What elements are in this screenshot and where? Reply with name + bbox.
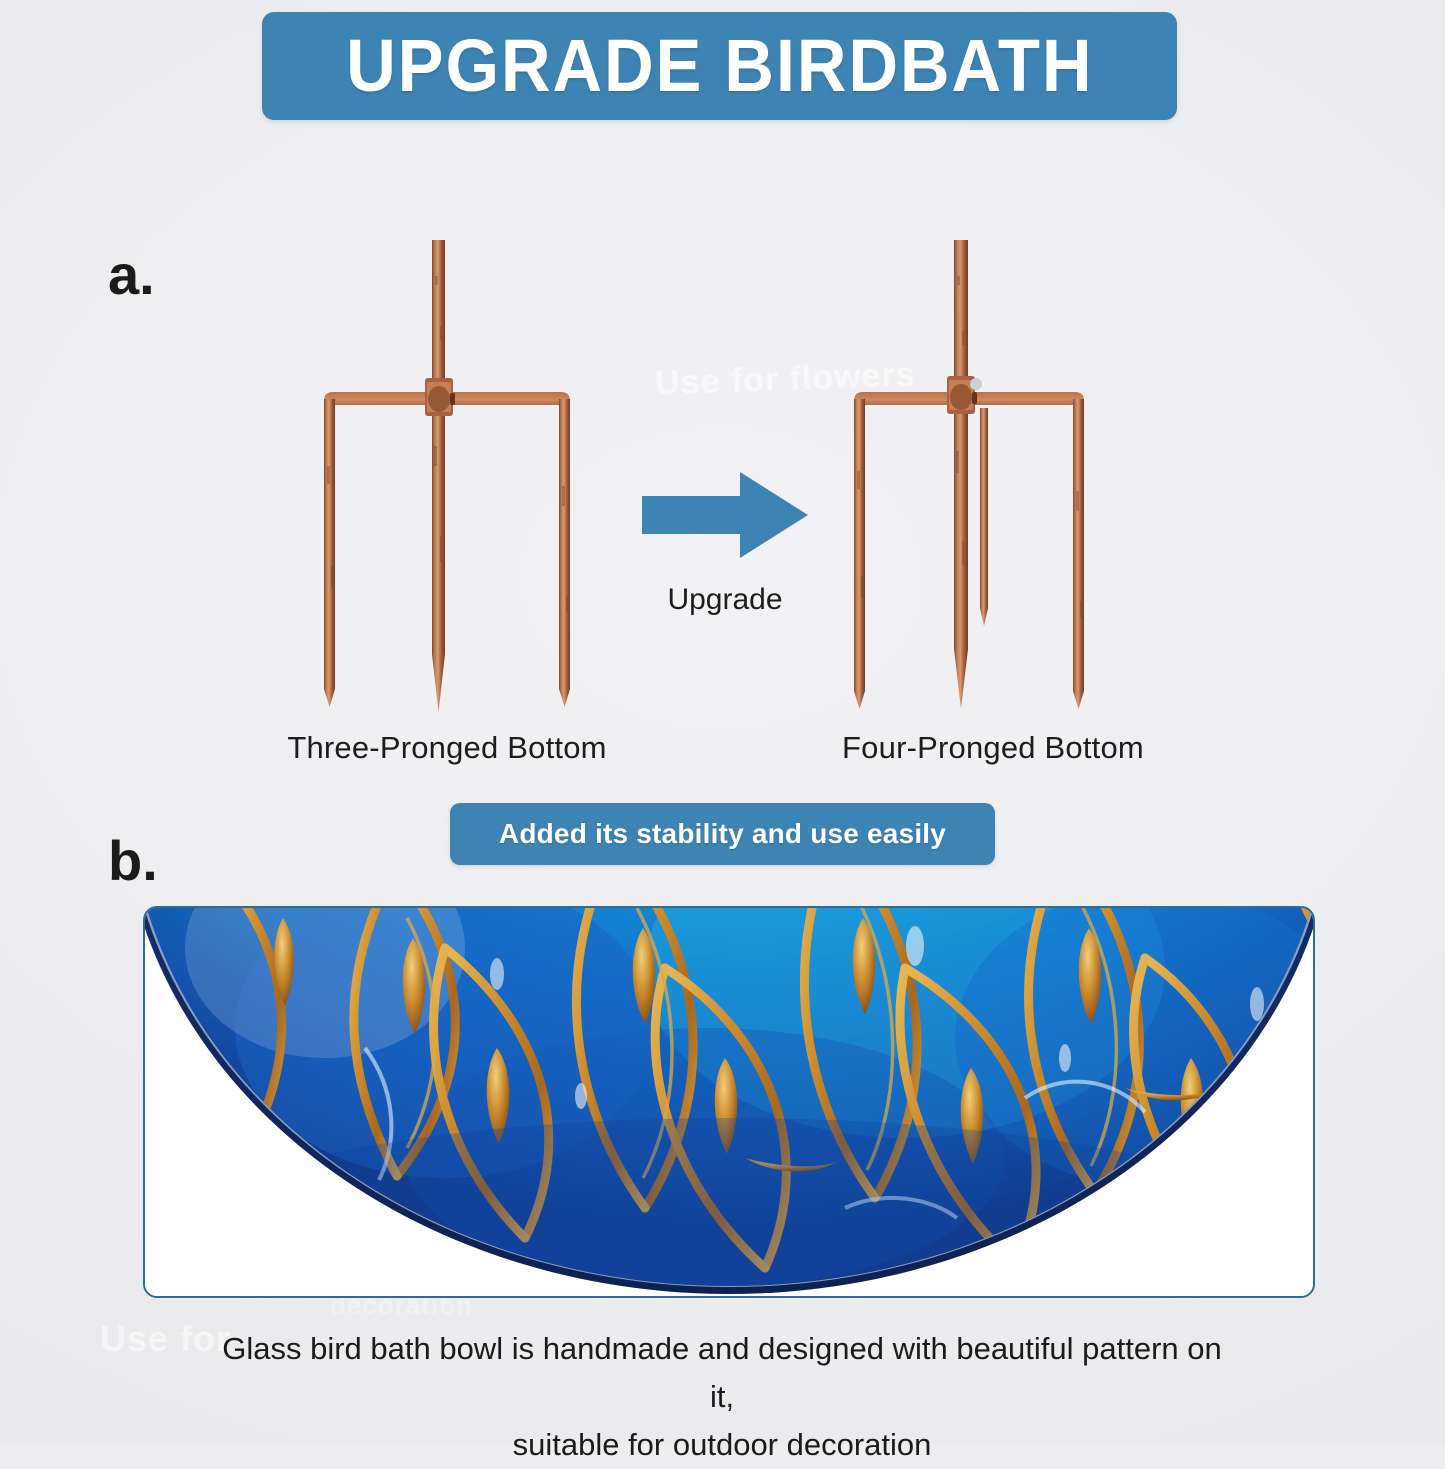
four-pronged-label: Four-Pronged Bottom: [828, 730, 1158, 766]
bowl-caption-line2: suitable for outdoor decoration: [222, 1421, 1222, 1469]
upgrade-caption: Upgrade: [620, 583, 830, 617]
bowl-caption: Glass bird bath bowl is handmade and des…: [222, 1325, 1222, 1469]
three-pronged-stake-icon: [282, 236, 612, 726]
watermark-bottom-left: Use for: [100, 1318, 231, 1360]
right-arrow-icon: [640, 470, 810, 560]
stability-callout-banner: Added its stability and use easily: [450, 803, 995, 865]
page-title: UPGRADE BIRDBATH: [346, 29, 1093, 103]
stability-callout-text: Added its stability and use easily: [499, 818, 946, 850]
title-banner: UPGRADE BIRDBATH: [262, 12, 1177, 120]
section-letter-b: b.: [108, 833, 158, 889]
section-letter-a: a.: [108, 247, 155, 303]
glass-birdbath-bowl-image: [143, 906, 1315, 1298]
infographic-page: Use for flowers Use for decoration UPGRA…: [0, 0, 1445, 1445]
bowl-caption-line1: Glass bird bath bowl is handmade and des…: [222, 1331, 1222, 1414]
four-pronged-stake-icon: [828, 236, 1158, 726]
three-pronged-label: Three-Pronged Bottom: [282, 730, 612, 766]
